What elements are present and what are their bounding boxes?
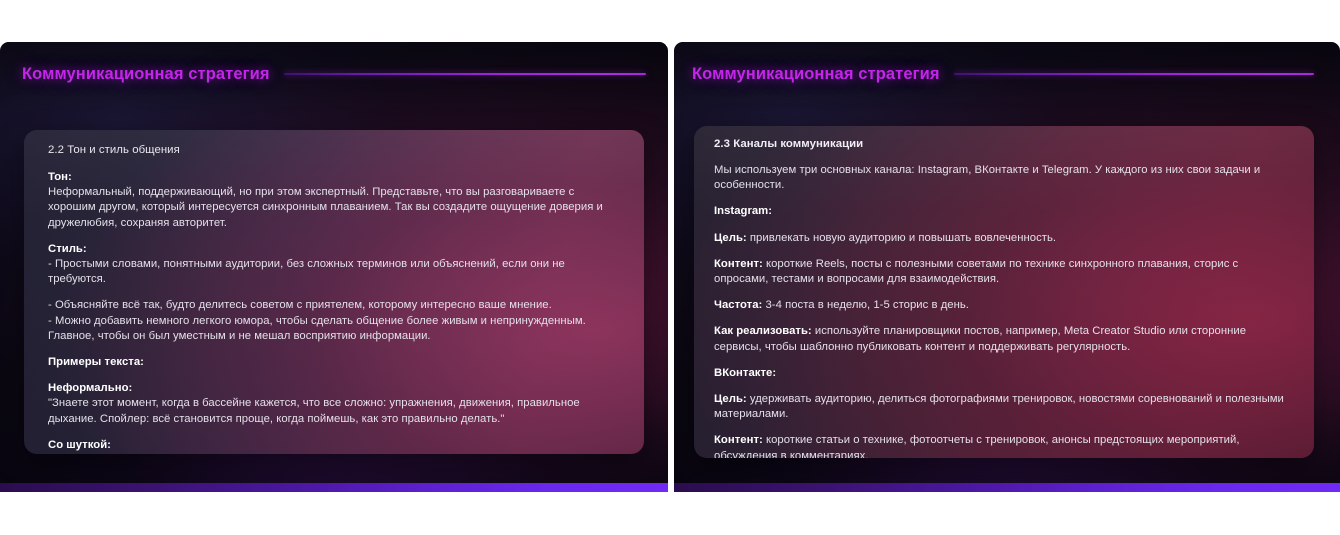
card-body: 2.2 Тон и стиль общения Тон: Неформальны… <box>24 130 644 454</box>
content-card: 2.2 Тон и стиль общения Тон: Неформальны… <box>24 130 644 454</box>
inline-text: 3-4 поста в неделю, 1-5 сторис в день. <box>762 299 969 311</box>
inline-label: Контент: <box>714 434 763 446</box>
inline-label: Стиль: <box>48 243 87 255</box>
slide-footer-bar <box>674 483 1340 492</box>
channel-name: Instagram: <box>714 204 1294 219</box>
slide-panel-tone-and-style: Коммуникационная стратегия 2.2 Тон и сти… <box>0 42 668 492</box>
paragraph-body: Неформальный, поддерживающий, но при это… <box>48 185 622 231</box>
paragraph-label: Примеры текста: <box>48 355 622 370</box>
channel-detail: Цель: привлекать новую аудиторию и повыш… <box>714 231 1294 246</box>
content-card: 2.3 Каналы коммуникации Мы используем тр… <box>694 126 1314 458</box>
inline-label: Instagram: <box>714 205 772 217</box>
inline-text: удерживать аудиторию, делиться фотографи… <box>714 393 1284 420</box>
slide-seam <box>668 42 674 535</box>
paragraph-label: Со шуткой: <box>48 438 622 453</box>
paragraph-label: Неформально: <box>48 381 622 396</box>
slide-panel-channels: Коммуникационная стратегия 2.3 Каналы ко… <box>674 42 1340 492</box>
paragraph-body: - Объясняйте всё так, будто делитесь сов… <box>48 298 622 313</box>
inline-label: Цель: <box>714 232 747 244</box>
header-rule <box>284 73 646 75</box>
channel-detail: Частота: 3-4 поста в неделю, 1-5 сторис … <box>714 298 1294 313</box>
slide-footer-bar <box>0 483 668 492</box>
inline-text: привлекать новую аудиторию и повышать во… <box>747 232 1056 244</box>
inline-label: ВКонтакте: <box>714 367 776 379</box>
inline-label: Неформально: <box>48 382 132 394</box>
card-body: 2.3 Каналы коммуникации Мы используем тр… <box>694 126 1314 458</box>
inline-label: Цель: <box>714 393 747 405</box>
slide-header: Коммуникационная стратегия <box>692 62 1314 86</box>
inline-label: Тон: <box>48 171 72 183</box>
paragraph-body: "Тренировки в синхронном плавании — это … <box>48 453 622 454</box>
slide-header: Коммуникационная стратегия <box>22 62 646 86</box>
paragraph-body: - Можно добавить немного легкого юмора, … <box>48 314 622 344</box>
inline-label: Со шуткой: <box>48 439 111 451</box>
channel-detail: Как реализовать: используйте планировщик… <box>714 324 1294 354</box>
channel-detail: Цель: удерживать аудиторию, делиться фот… <box>714 392 1294 422</box>
paragraph-label: Стиль: <box>48 242 622 257</box>
slide-gap-notch <box>666 40 675 46</box>
inline-label: Как реализовать: <box>714 325 812 337</box>
inline-label: Контент: <box>714 258 763 270</box>
intro-paragraph: Мы используем три основных канала: Insta… <box>714 163 1294 193</box>
paragraph-body: "Знаете этот момент, когда в бассейне ка… <box>48 396 622 426</box>
slide-title: Коммуникационная стратегия <box>22 65 270 84</box>
inline-text: короткие статьи о технике, фотоотчеты с … <box>714 434 1240 458</box>
paragraph-label: Тон: <box>48 170 622 185</box>
paragraph-body: - Простыми словами, понятными аудитории,… <box>48 257 622 287</box>
inline-text: короткие Reels, посты с полезными совета… <box>714 258 1238 285</box>
slides-stage: Коммуникационная стратегия 2.2 Тон и сти… <box>0 0 1340 535</box>
header-rule <box>954 73 1314 75</box>
slide-title: Коммуникационная стратегия <box>692 65 940 84</box>
channel-detail: Контент: короткие Reels, посты с полезны… <box>714 257 1294 287</box>
section-title: 2.2 Тон и стиль общения <box>48 144 622 156</box>
channel-name: ВКонтакте: <box>714 366 1294 381</box>
section-title: 2.3 Каналы коммуникации <box>714 138 1294 150</box>
inline-label: Примеры текста: <box>48 356 144 368</box>
inline-label: Частота: <box>714 299 762 311</box>
channel-detail: Контент: короткие статьи о технике, фото… <box>714 433 1294 458</box>
